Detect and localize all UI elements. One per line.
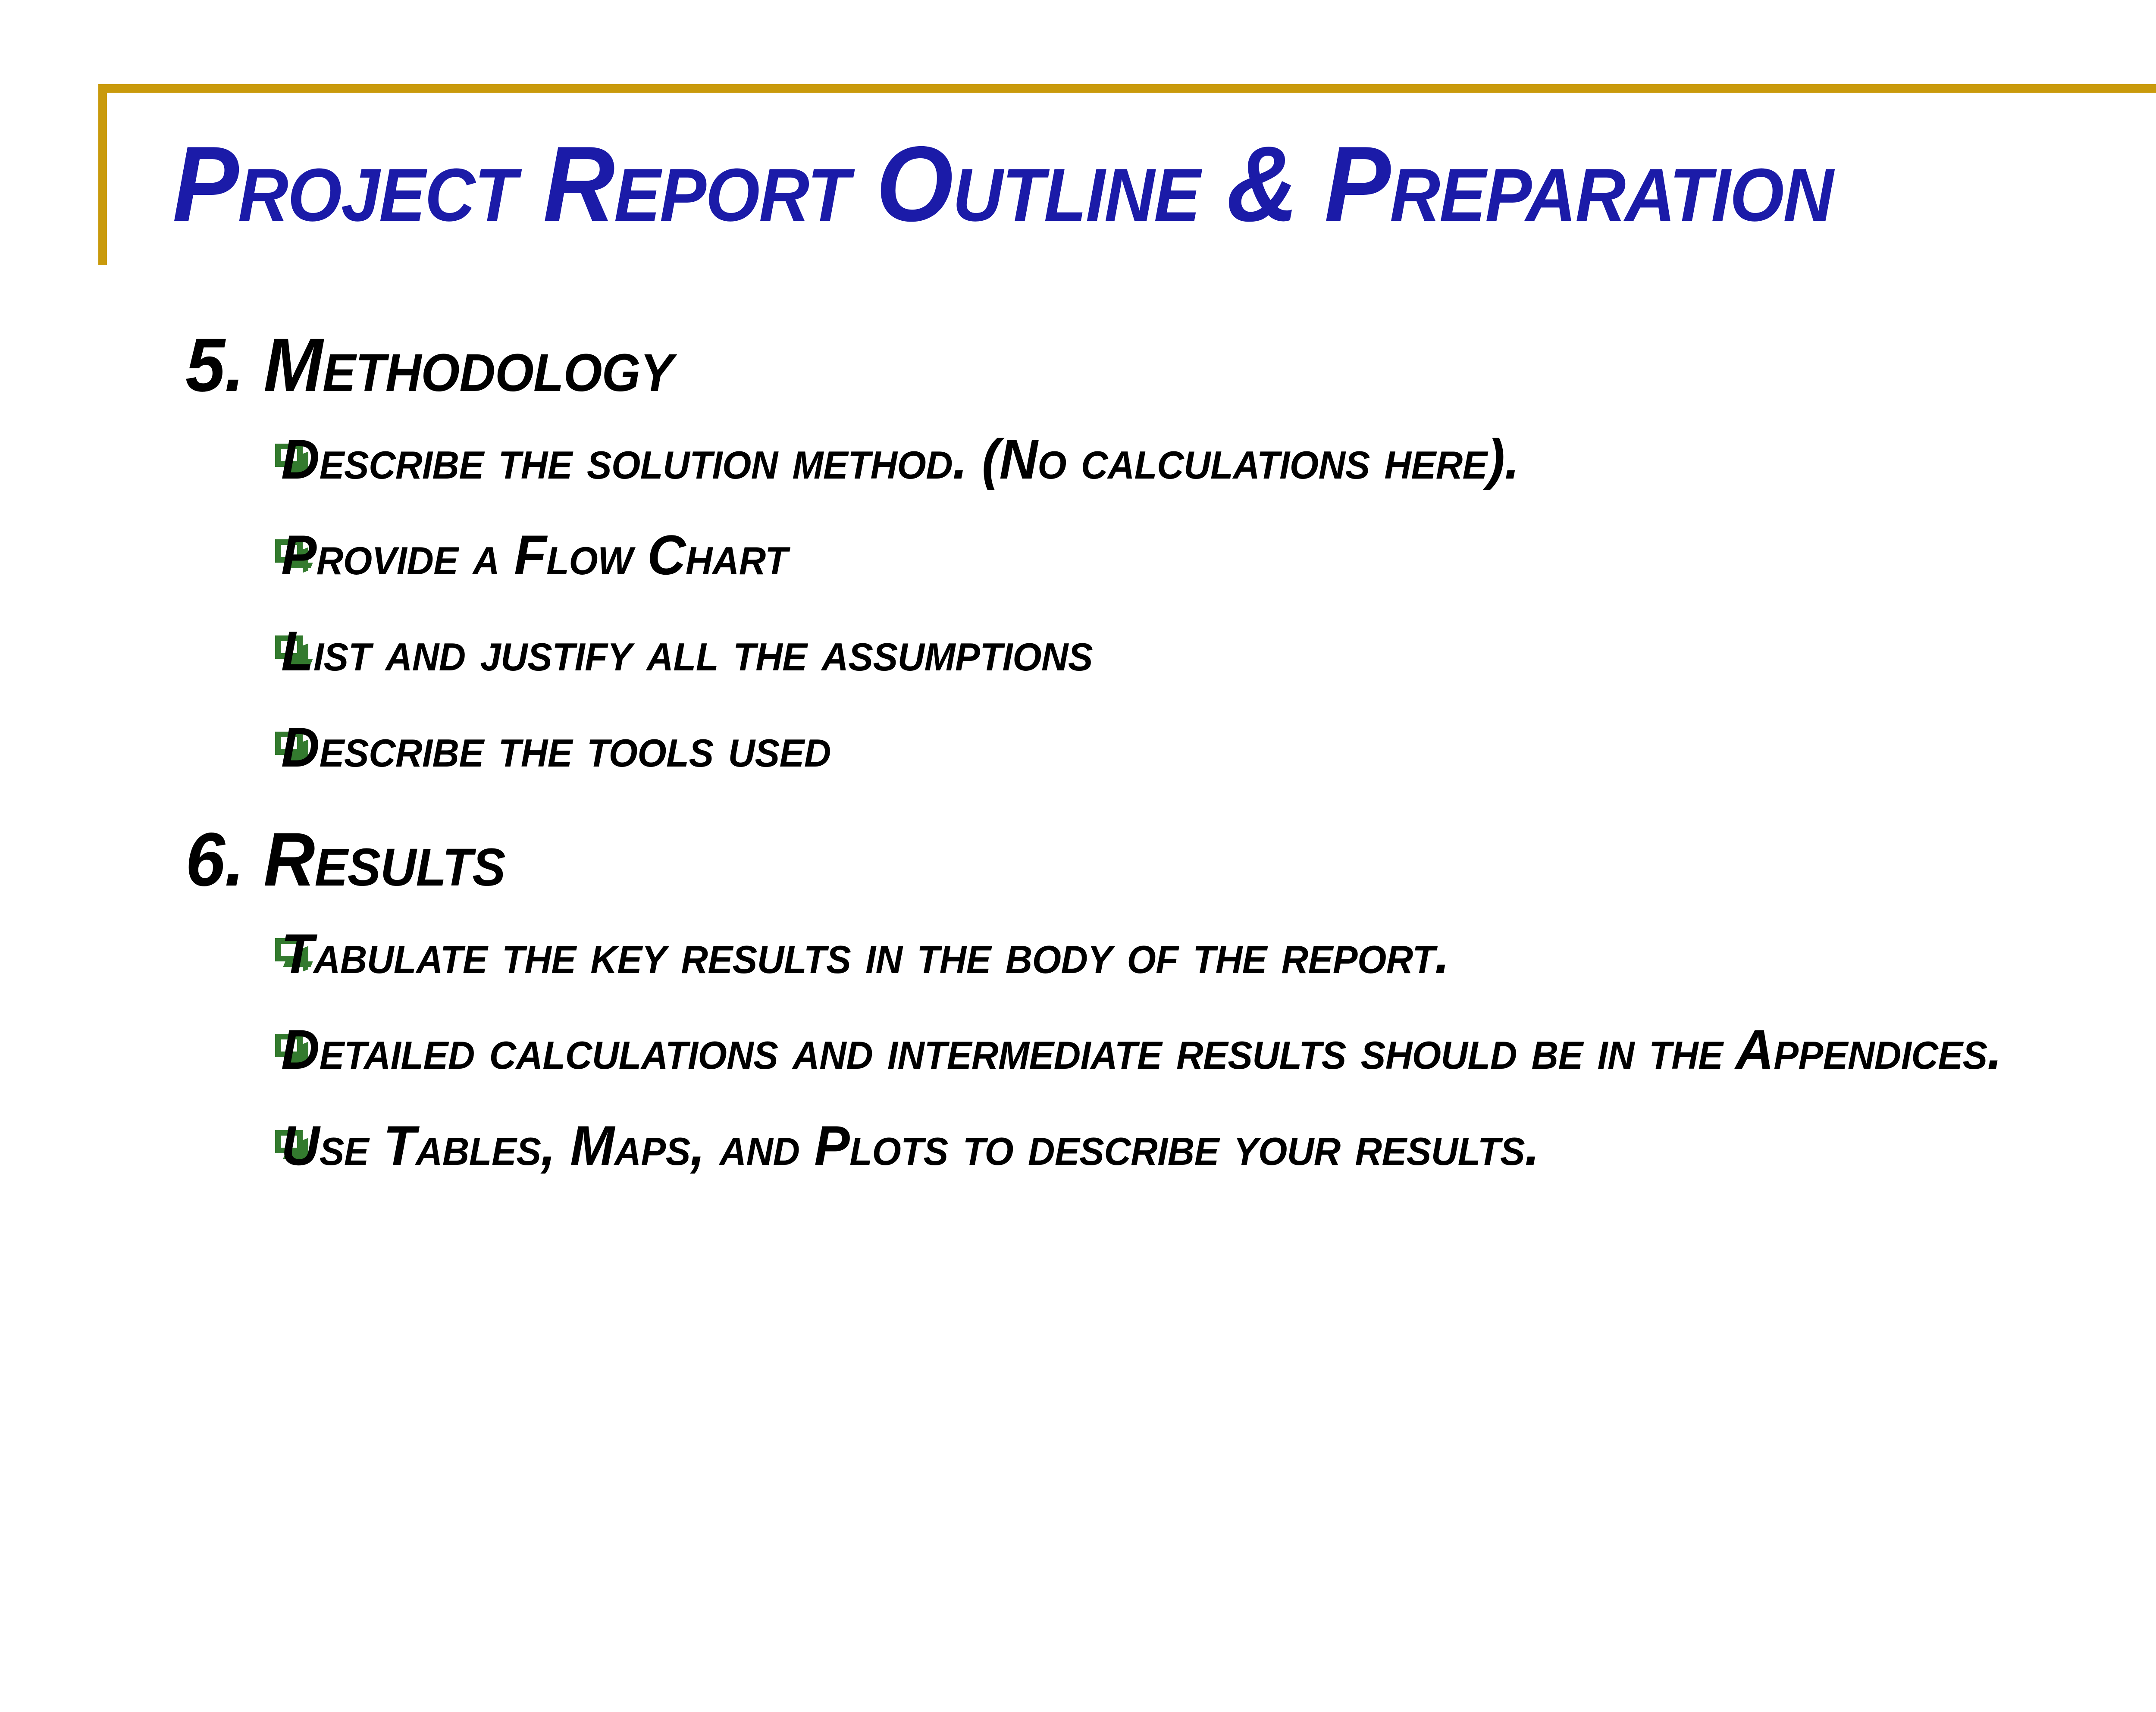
- slide-title: Project Report Outline & Preparation: [172, 129, 2156, 238]
- slide-canvas: Project Report Outline & Preparation 5. …: [0, 0, 2156, 1712]
- section-methodology: 5. Methodology Describe the solution met…: [185, 319, 2156, 787]
- frame-top-rule: [98, 84, 2156, 93]
- hollow-square-bullet-icon: [185, 707, 281, 755]
- list-item-label: Use Tables, Maps, and Plots to describe …: [281, 1106, 2156, 1186]
- list-item-label: Tabulate the key results in the body of …: [281, 914, 2156, 994]
- list-item[interactable]: Describe the solution method. (No calcul…: [185, 419, 2156, 499]
- list-item-label: Provide a Flow Chart: [281, 515, 2156, 595]
- list-item-label: Detailed calculations and intermediate r…: [281, 1010, 2156, 1089]
- section-results: 6. Results Tabulate the key results in t…: [185, 814, 2156, 1186]
- hollow-square-bullet-icon: [185, 1010, 281, 1057]
- frame-left-rule: [98, 84, 107, 265]
- hollow-square-bullet-icon: [185, 611, 281, 659]
- list-item[interactable]: List and justify all the assumptions: [185, 611, 2156, 691]
- list-item[interactable]: Detailed calculations and intermediate r…: [185, 1010, 2156, 1089]
- list-item-label: Describe the solution method. (No calcul…: [281, 419, 2156, 499]
- bullet-list-methodology: Describe the solution method. (No calcul…: [185, 419, 2156, 787]
- hollow-square-bullet-icon: [185, 515, 281, 563]
- section-heading-methodology: 5. Methodology: [185, 319, 2156, 412]
- list-item-label: List and justify all the assumptions: [281, 611, 2156, 691]
- list-item-label: Describe the tools used: [281, 707, 2156, 787]
- hollow-square-bullet-icon: [185, 914, 281, 961]
- list-item[interactable]: Describe the tools used: [185, 707, 2156, 787]
- slide-body: 5. Methodology Describe the solution met…: [185, 319, 2156, 1202]
- section-heading-results: 6. Results: [185, 814, 2156, 906]
- hollow-square-bullet-icon: [185, 419, 281, 467]
- list-item[interactable]: Tabulate the key results in the body of …: [185, 914, 2156, 994]
- hollow-square-bullet-icon: [185, 1106, 281, 1153]
- list-item[interactable]: Use Tables, Maps, and Plots to describe …: [185, 1106, 2156, 1186]
- list-item[interactable]: Provide a Flow Chart: [185, 515, 2156, 595]
- bullet-list-results: Tabulate the key results in the body of …: [185, 914, 2156, 1186]
